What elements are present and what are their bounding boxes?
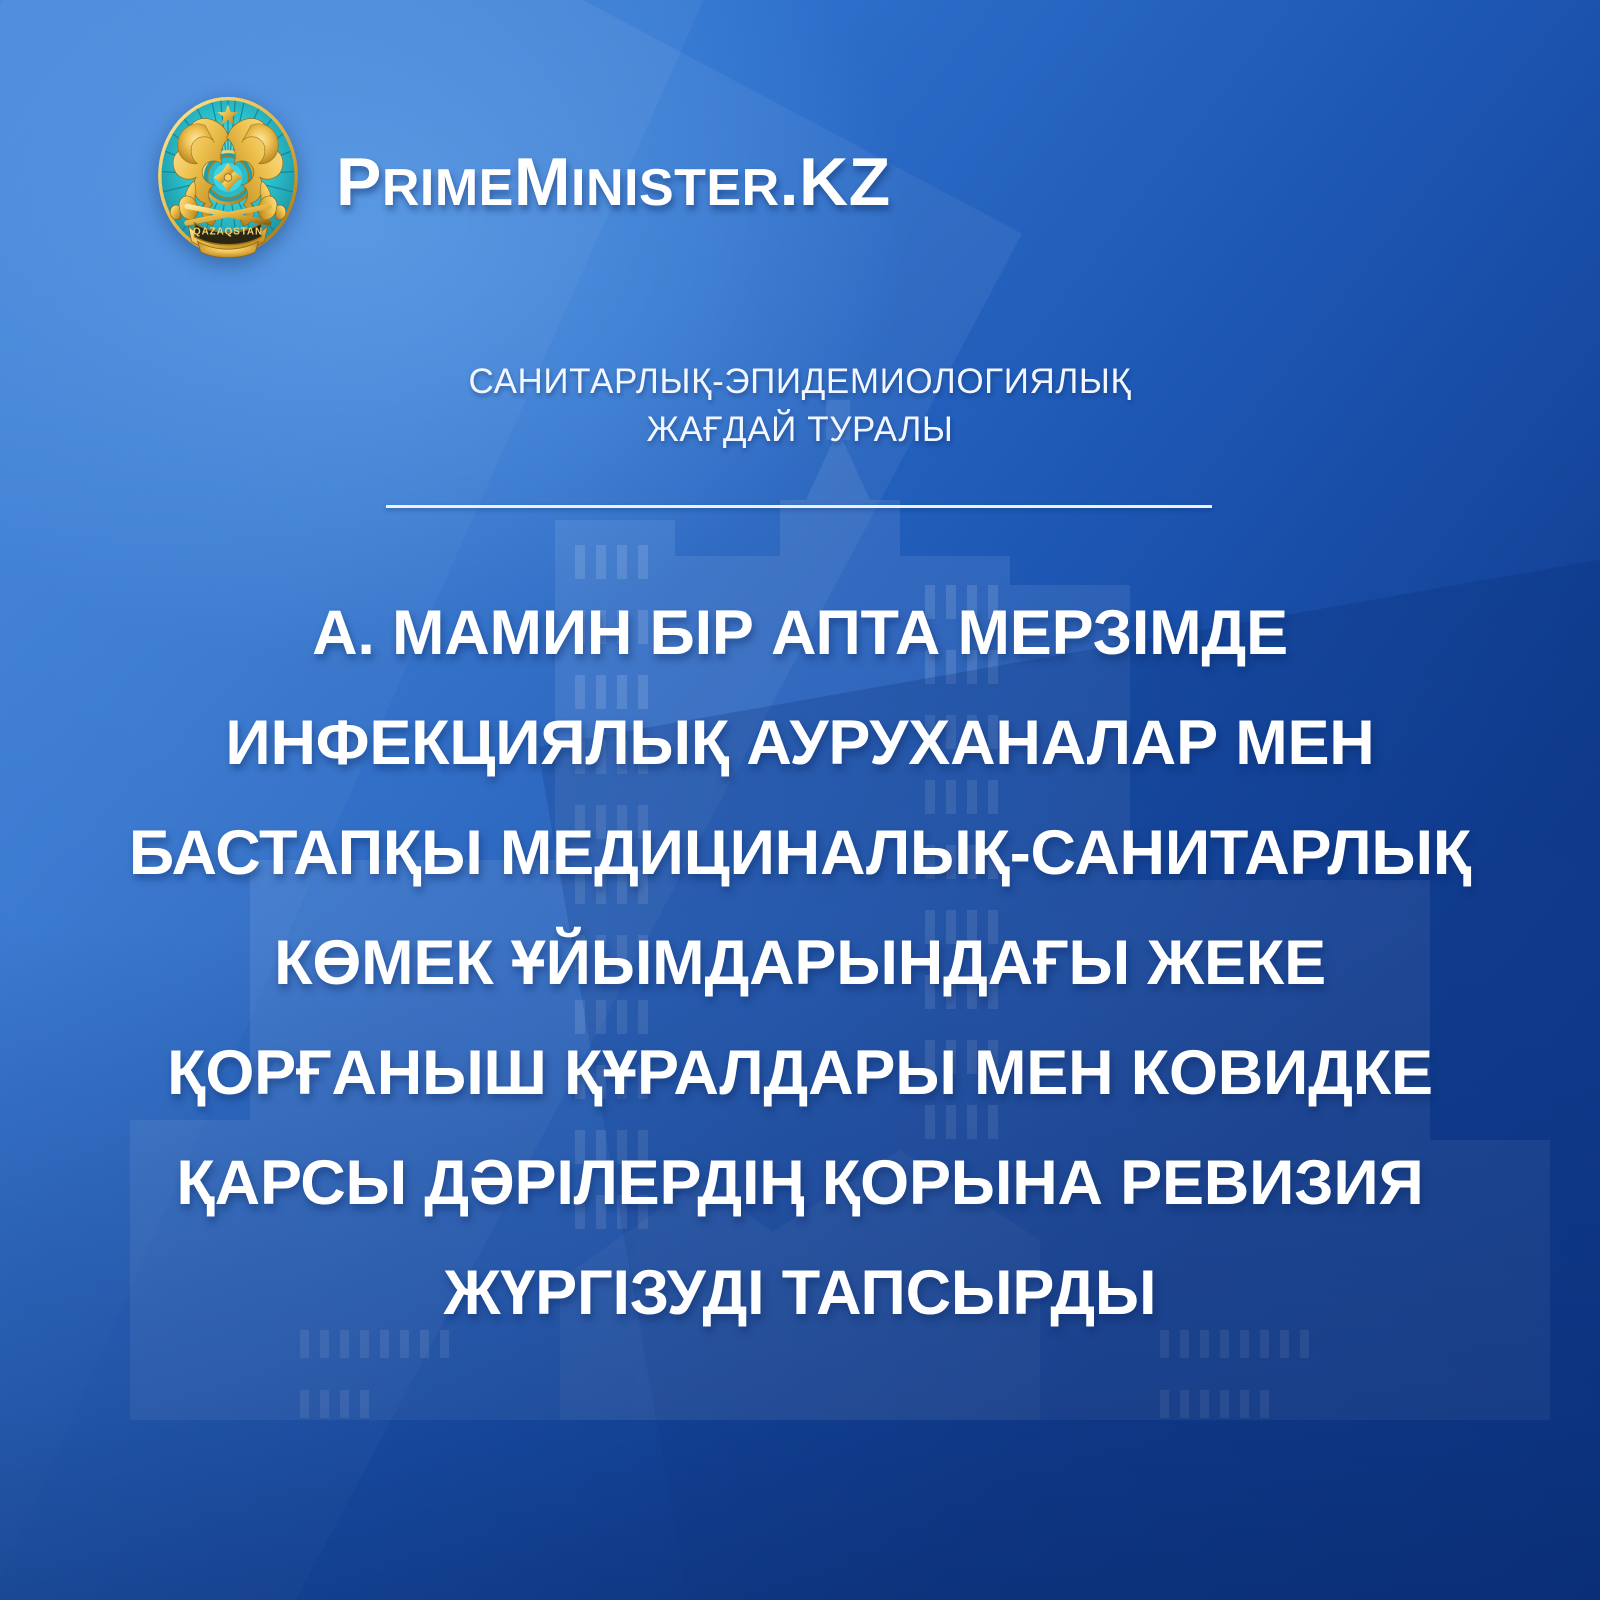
kazakhstan-coat-of-arms-icon: QAZAQSTAN <box>152 92 304 272</box>
headline-line-6: ҚАРСЫ ДӘРІЛЕРДІҢ ҚОРЫНА РЕВИЗИЯ <box>40 1128 1560 1238</box>
headline-line-2: ИНФЕКЦИЯЛЫҚ АУРУХАНАЛАР МЕН <box>40 688 1560 798</box>
social-card: QAZAQSTAN PRIMEMINISTER.KZ САНИТАРЛЫҚ-ЭП… <box>0 0 1600 1600</box>
headline-line-5: ҚОРҒАНЫШ ҚҰРАЛДАРЫ МЕН КОВИДКЕ <box>40 1018 1560 1128</box>
kicker-text: САНИТАРЛЫҚ-ЭПИДЕМИОЛОГИЯЛЫҚ ЖАҒДАЙ ТУРАЛ… <box>300 358 1300 455</box>
kicker-line-2: ЖАҒДАЙ ТУРАЛЫ <box>300 406 1300 454</box>
wordmark-kz: .KZ <box>780 144 891 220</box>
emblem-ribbon-label: QAZAQSTAN <box>193 226 263 237</box>
kicker-line-1: САНИТАРЛЫҚ-ЭПИДЕМИОЛОГИЯЛЫҚ <box>469 362 1132 401</box>
headline-line-3: БАСТАПҚЫ МЕДИЦИНАЛЫҚ-САНИТАРЛЫҚ <box>40 798 1560 908</box>
site-wordmark[interactable]: PRIMEMINISTER.KZ <box>336 148 891 216</box>
headline-line-1: А. МАМИН БІР АПТА МЕРЗІМДЕ <box>40 578 1560 688</box>
headline: А. МАМИН БІР АПТА МЕРЗІМДЕ ИНФЕКЦИЯЛЫҚ А… <box>40 578 1560 1348</box>
headline-line-7: ЖҮРГІЗУДІ ТАПСЫРДЫ <box>40 1238 1560 1348</box>
brand-header: QAZAQSTAN PRIMEMINISTER.KZ <box>152 92 891 272</box>
wordmark-inister: INISTER <box>571 159 780 217</box>
wordmark-m: M <box>514 144 571 220</box>
wordmark-p: P <box>336 144 382 220</box>
wordmark-rime: RIME <box>382 159 514 217</box>
divider-rule <box>386 505 1212 508</box>
headline-line-4: КӨМЕК ҰЙЫМДАРЫНДАҒЫ ЖЕКЕ <box>40 908 1560 1018</box>
